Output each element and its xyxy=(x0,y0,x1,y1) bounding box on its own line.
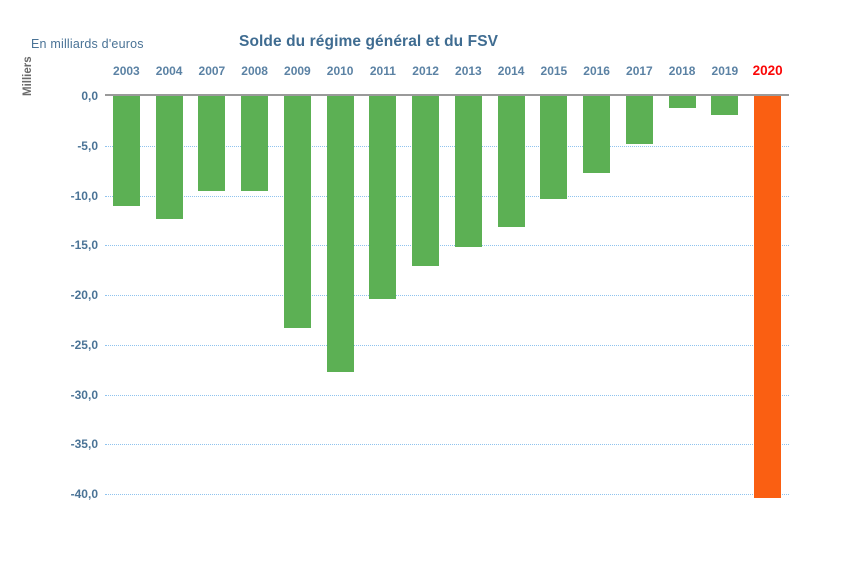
bar-2013[interactable] xyxy=(455,96,482,247)
y-axis-tick-labels: 0,0-5,0-10,0-15,0-20,0-25,0-30,0-35,0-40… xyxy=(38,96,98,494)
gridline xyxy=(105,345,789,346)
bar-2008[interactable] xyxy=(241,96,268,191)
x-axis-tick-label-2020: 2020 xyxy=(746,63,789,78)
bar-2012[interactable] xyxy=(412,96,439,266)
y-axis-tick-label: -20,0 xyxy=(40,288,98,302)
chart-title: Solde du régime général et du FSV xyxy=(239,33,498,51)
bar-2016[interactable] xyxy=(583,96,610,173)
y-axis-tick-label: -30,0 xyxy=(40,388,98,402)
x-axis-tick-label-2008: 2008 xyxy=(233,64,276,78)
x-axis-tick-label-2004: 2004 xyxy=(148,64,191,78)
bar-2009[interactable] xyxy=(284,96,311,328)
y-axis-tick-label: -15,0 xyxy=(40,238,98,252)
y-axis-tick-label: -10,0 xyxy=(40,189,98,203)
chart-container: En milliards d'euros Solde du régime gén… xyxy=(0,0,854,566)
y-axis-tick-label: -25,0 xyxy=(40,338,98,352)
x-axis-tick-label-2017: 2017 xyxy=(618,64,661,78)
y-axis-tick-label: 0,0 xyxy=(40,89,98,103)
chart-subtitle: En milliards d'euros xyxy=(31,37,144,51)
x-axis-tick-label-2014: 2014 xyxy=(490,64,533,78)
plot-area xyxy=(105,96,789,494)
bar-2018[interactable] xyxy=(669,96,696,108)
gridline xyxy=(105,295,789,296)
y-axis-tick-label: -5,0 xyxy=(40,139,98,153)
bar-2011[interactable] xyxy=(369,96,396,299)
bar-2004[interactable] xyxy=(156,96,183,219)
x-axis-tick-label-2015: 2015 xyxy=(533,64,576,78)
y-axis-tick-label: -40,0 xyxy=(40,487,98,501)
bar-2017[interactable] xyxy=(626,96,653,144)
x-axis-tick-label-2007: 2007 xyxy=(191,64,234,78)
y-axis-title: Milliers xyxy=(22,56,34,96)
x-axis-tick-label-2012: 2012 xyxy=(404,64,447,78)
gridline xyxy=(105,245,789,246)
gridline xyxy=(105,395,789,396)
x-axis-tick-label-2003: 2003 xyxy=(105,64,148,78)
x-axis-tick-label-2011: 2011 xyxy=(362,64,405,78)
bar-2007[interactable] xyxy=(198,96,225,191)
x-axis-tick-label-2018: 2018 xyxy=(661,64,704,78)
bar-2020[interactable] xyxy=(754,96,781,498)
x-axis-tick-label-2009: 2009 xyxy=(276,64,319,78)
gridline xyxy=(105,196,789,197)
bar-2003[interactable] xyxy=(113,96,140,206)
x-axis-tick-label-2019: 2019 xyxy=(704,64,747,78)
gridline xyxy=(105,444,789,445)
x-axis-tick-label-2016: 2016 xyxy=(575,64,618,78)
bar-2010[interactable] xyxy=(327,96,354,372)
bar-2015[interactable] xyxy=(540,96,567,199)
x-axis-tick-labels: 2003200420072008200920102011201220132014… xyxy=(105,64,789,84)
bar-2014[interactable] xyxy=(498,96,525,227)
x-axis-tick-label-2013: 2013 xyxy=(447,64,490,78)
bar-2019[interactable] xyxy=(711,96,738,115)
gridline xyxy=(105,494,789,495)
x-axis-tick-label-2010: 2010 xyxy=(319,64,362,78)
y-axis-tick-label: -35,0 xyxy=(40,437,98,451)
